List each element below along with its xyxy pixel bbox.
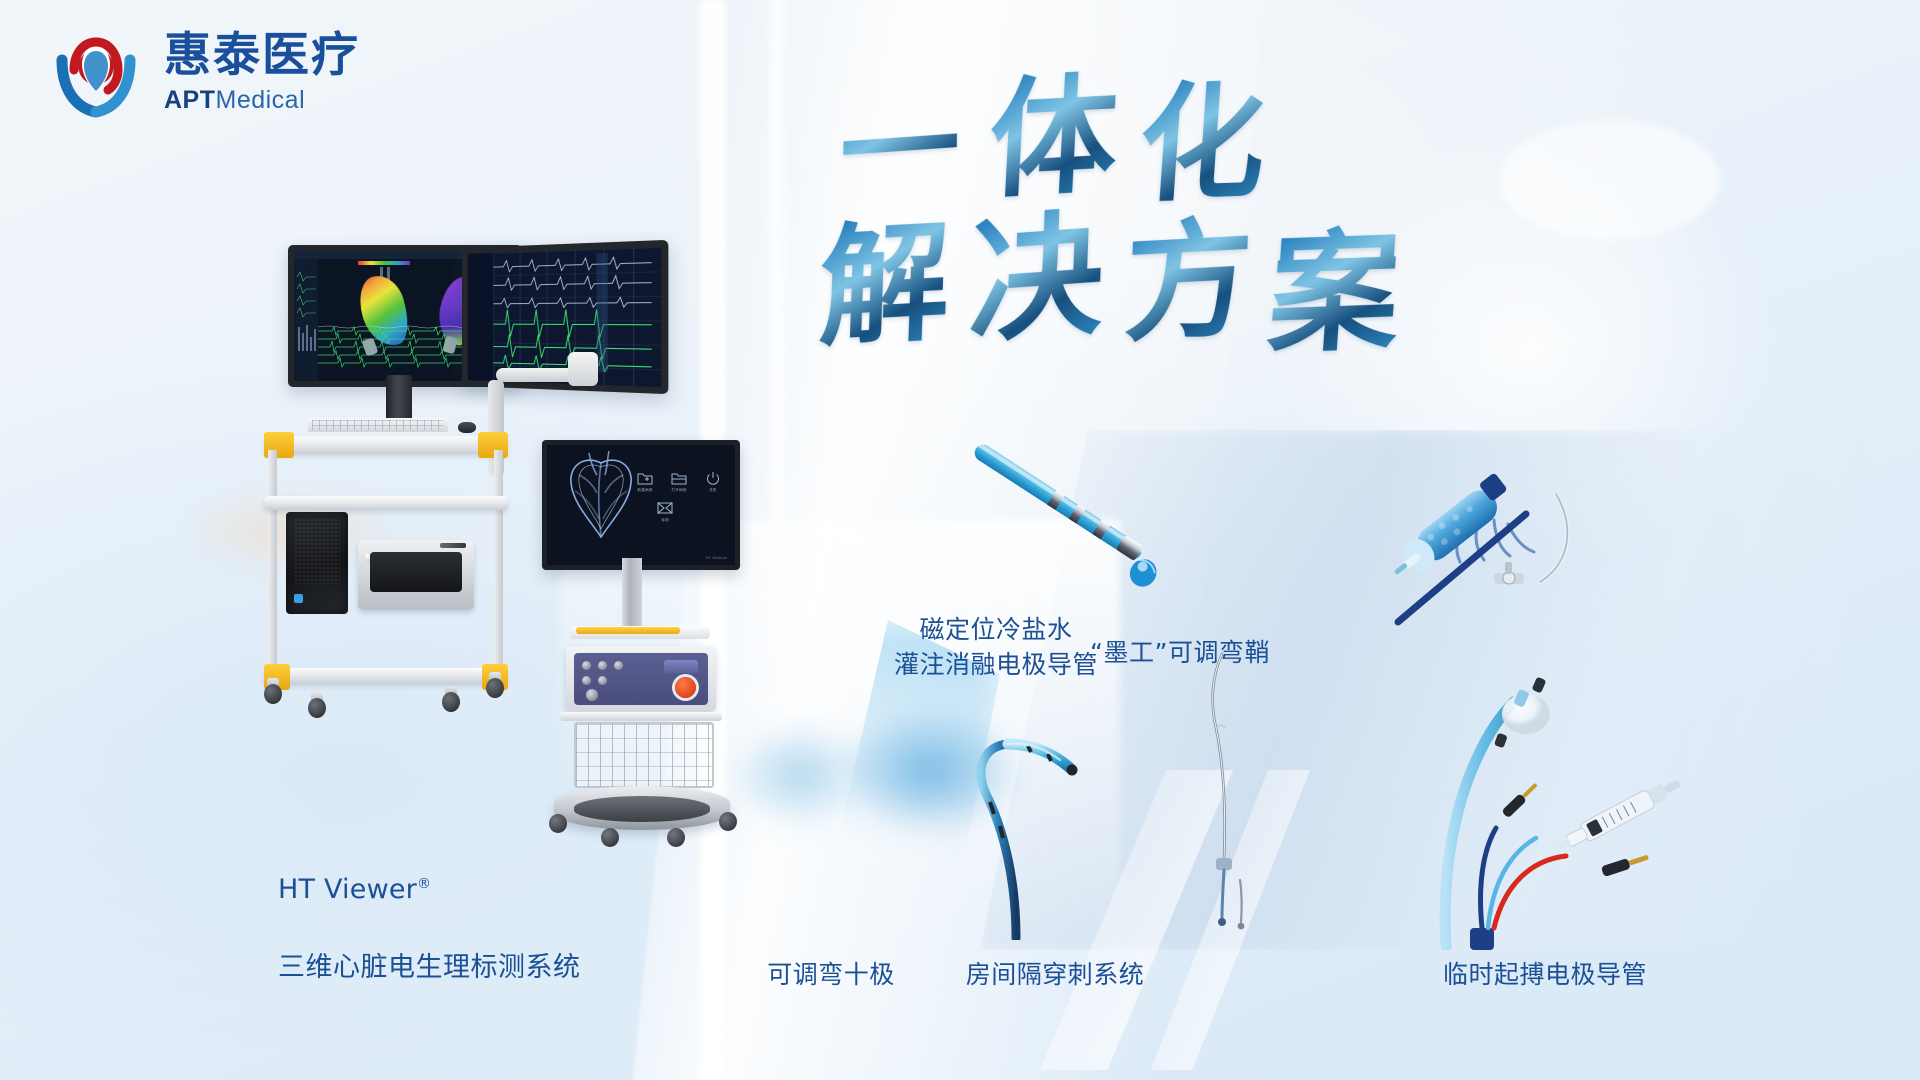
apt-medical-double-heart-logo bbox=[44, 20, 148, 124]
cart-caster bbox=[306, 692, 328, 720]
monitor-arm-joint bbox=[568, 352, 598, 386]
cart-caster bbox=[440, 686, 462, 714]
mesh-map-label: 标测 bbox=[661, 518, 668, 523]
transseptal-system-label: 房间隔穿刺系统 bbox=[940, 958, 1170, 993]
pc-tower bbox=[286, 512, 348, 614]
mouse[interactable] bbox=[458, 422, 476, 433]
wireframe-heart-graphic bbox=[555, 449, 647, 553]
keyboard[interactable] bbox=[308, 418, 448, 432]
display-pole bbox=[622, 558, 642, 630]
display-icon-row: 新建病例 打开病例 关机 bbox=[635, 471, 723, 495]
generator-display-strip bbox=[664, 660, 698, 673]
printer-brand-plate bbox=[440, 543, 466, 548]
generator-port[interactable] bbox=[582, 676, 591, 685]
rf-generator bbox=[566, 646, 716, 712]
brand-name-en-light: Medical bbox=[216, 86, 306, 114]
pc-vent-grille bbox=[294, 518, 340, 584]
brand-name-cn: 惠泰医疗 bbox=[164, 32, 360, 79]
temporary-pacing-electrode-catheter bbox=[1430, 670, 1710, 950]
decapolar-catheter-label: 可调弯十极 bbox=[746, 958, 916, 993]
open-folder-label: 打开病例 bbox=[671, 488, 686, 493]
pc-power-badge bbox=[294, 594, 303, 603]
monitor-neck bbox=[386, 375, 412, 423]
generator-cart-caster bbox=[666, 822, 686, 848]
headline-char-5: 决 bbox=[967, 165, 1107, 369]
heart-display-monitor: 新建病例 打开病例 关机 标测 HT Medical bbox=[542, 440, 740, 570]
headline-char-7: 案 bbox=[1263, 185, 1406, 378]
secondary-screen-rail bbox=[468, 253, 494, 381]
new-folder-label: 新建病例 bbox=[637, 488, 652, 493]
generator-tray-bumper bbox=[576, 627, 680, 634]
pacing-lead-label: 临时起搏电极导管 bbox=[1420, 958, 1670, 993]
cart-bumper-top-right bbox=[478, 432, 508, 458]
keyboard-keys bbox=[312, 420, 444, 430]
steerable-decapolar-catheter bbox=[930, 690, 1120, 940]
headline-char-4: 解 bbox=[817, 176, 953, 371]
steerable-sheath bbox=[1368, 430, 1648, 630]
open-folder-icon[interactable]: 打开病例 bbox=[669, 471, 689, 495]
cart-top-shelf bbox=[264, 436, 508, 454]
new-folder-icon[interactable]: 新建病例 bbox=[635, 471, 655, 495]
generator-port-large[interactable] bbox=[586, 689, 598, 701]
trademark-symbol: ® bbox=[417, 876, 431, 892]
power-icon[interactable]: 关机 bbox=[703, 471, 723, 495]
generator-port[interactable] bbox=[582, 661, 591, 670]
cart-caster bbox=[262, 678, 284, 706]
generator-port[interactable] bbox=[598, 676, 607, 685]
brand-logo[interactable]: 惠泰医疗 APTMedical bbox=[44, 20, 360, 124]
generator-start-button[interactable] bbox=[675, 677, 696, 698]
transseptal-needle bbox=[1160, 650, 1290, 940]
ht-viewer-name-en: HT Viewer® bbox=[278, 871, 581, 908]
mesh-map-icon[interactable]: 标测 bbox=[653, 501, 677, 523]
brand-wordmark: 惠泰医疗 APTMedical bbox=[164, 32, 360, 113]
display-watermark: HT Medical bbox=[706, 556, 727, 560]
generator-port[interactable] bbox=[598, 661, 607, 670]
cart-post-right bbox=[494, 450, 503, 678]
generator-front-panel bbox=[574, 653, 708, 705]
generator-cart-caster bbox=[600, 822, 620, 848]
cart-base-shelf bbox=[264, 668, 508, 684]
poster-canvas: 惠泰医疗 APTMedical 一 体 化 解 决 方 案 bbox=[0, 0, 1920, 1080]
generator-cart-caster bbox=[718, 806, 738, 832]
headline-char-6: 方 bbox=[1122, 174, 1256, 366]
brand-name-en: APTMedical bbox=[164, 88, 360, 113]
storage-basket bbox=[574, 722, 714, 788]
secondary-monitor-screen bbox=[468, 247, 661, 387]
generator-cart: 新建病例 打开病例 关机 标测 HT Medical bbox=[530, 440, 780, 860]
irrigated-ablation-catheter bbox=[952, 420, 1192, 600]
signal-thumbnails bbox=[296, 267, 318, 367]
power-label: 关机 bbox=[709, 488, 717, 493]
cart-post-left bbox=[268, 450, 277, 678]
generator-lower-tray bbox=[560, 712, 722, 721]
printer bbox=[358, 540, 474, 610]
generator-port[interactable] bbox=[614, 661, 623, 670]
cart-mid-shelf bbox=[264, 496, 508, 510]
ht-viewer-name-cn: 三维心脏电生理标测系统 bbox=[278, 949, 581, 986]
generator-cart-caster bbox=[548, 808, 568, 834]
headline-calligraphy: 一 体 化 解 决 方 案 bbox=[960, 40, 1620, 340]
steerable-sheath-label: “墨工”可调弯鞘 bbox=[1060, 636, 1300, 671]
printer-paper-tray bbox=[370, 552, 462, 592]
brand-name-en-bold: APT bbox=[164, 86, 216, 114]
cart-base-inner bbox=[574, 796, 710, 822]
ht-viewer-label: HT Viewer® 三维心脏电生理标测系统 bbox=[278, 836, 581, 1021]
cart-caster bbox=[484, 672, 506, 700]
